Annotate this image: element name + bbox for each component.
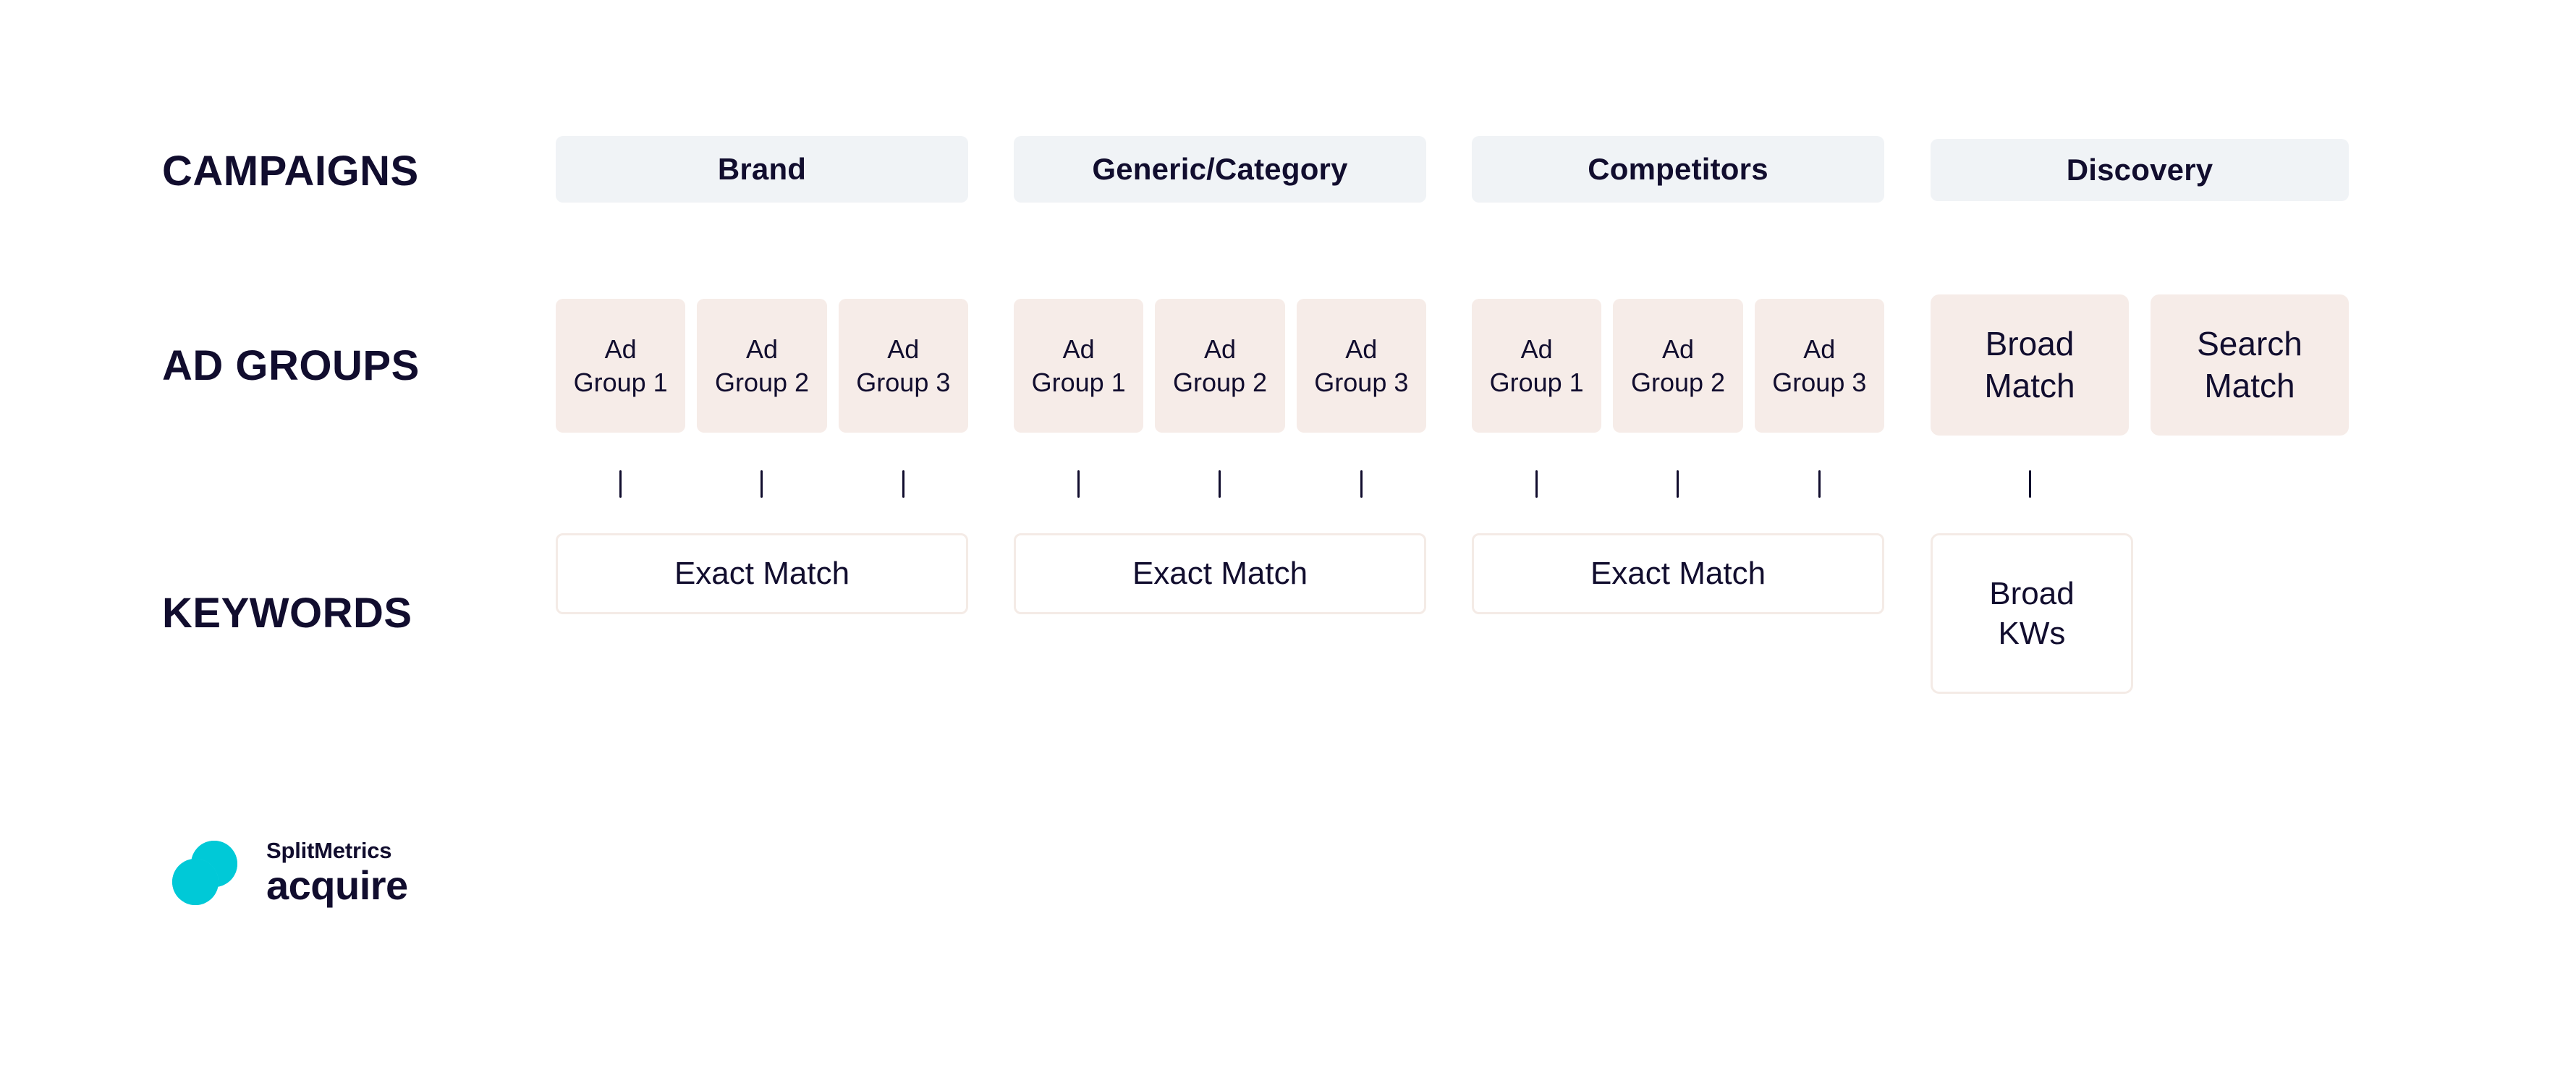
campaign-label: Generic/Category [1092, 154, 1347, 184]
keyword-card[interactable]: Exact Match [1014, 533, 1426, 614]
ad-group-card[interactable]: Ad Group 2 [1613, 299, 1742, 433]
connector-line [1219, 470, 1221, 498]
ad-group-label: Ad Group 2 [715, 333, 809, 399]
ad-group-label: Ad Group 2 [1631, 333, 1725, 399]
campaign-label: Discovery [2067, 155, 2213, 185]
connector-line [1818, 470, 1821, 498]
connector-slot [1613, 470, 1742, 498]
ad-group-row: Ad Group 1 Ad Group 2 Ad Group 3 [1014, 299, 1426, 433]
ad-group-label: Ad Group 1 [1490, 333, 1584, 399]
connector-slot [839, 470, 968, 498]
logo-name-top: SplitMetrics [266, 839, 408, 862]
connector-row [1931, 470, 2349, 498]
ad-group-card[interactable]: Ad Group 3 [1297, 299, 1426, 433]
keyword-label: Broad KWs [1989, 574, 2074, 654]
overlapping-circles-icon [162, 840, 247, 905]
ad-group-card[interactable]: Ad Group 1 [1014, 299, 1143, 433]
row-label-campaigns: CAMPAIGNS [162, 147, 419, 195]
keyword-row: Exact Match [556, 533, 968, 614]
connector-slot [1472, 470, 1601, 498]
connector-line [1077, 470, 1080, 498]
ad-group-row: Ad Group 1 Ad Group 2 Ad Group 3 [1472, 299, 1884, 433]
ad-group-label: Ad Group 3 [1772, 333, 1866, 399]
keyword-label: Exact Match [674, 553, 850, 593]
campaign-card-brand[interactable]: Brand [556, 136, 968, 203]
splitmetrics-acquire-logo: SplitMetrics acquire [162, 839, 408, 906]
keyword-card-broad-kws[interactable]: Broad KWs [1931, 533, 2133, 694]
connector-line [1677, 470, 1679, 498]
campaign-columns: Brand Ad Group 1 Ad Group 2 [556, 0, 2437, 723]
connector-line [619, 470, 622, 498]
ad-group-row: Broad Match Search Match [1931, 294, 2349, 436]
ad-group-card-broad-match[interactable]: Broad Match [1931, 294, 2129, 436]
campaign-card-generic-category[interactable]: Generic/Category [1014, 136, 1426, 203]
ad-group-label: Ad Group 3 [856, 333, 950, 399]
ad-group-card[interactable]: Ad Group 3 [839, 299, 968, 433]
connector-row [556, 470, 968, 498]
connector-line [760, 470, 763, 498]
row-label-ad-groups: AD GROUPS [162, 341, 420, 390]
connector-slot [1297, 470, 1426, 498]
ad-group-label: Search Match [2197, 323, 2302, 407]
row-label-keywords: KEYWORDS [162, 589, 412, 637]
connector-slot [697, 470, 826, 498]
connector-slot [1931, 470, 2129, 498]
connector-slot [1755, 470, 1884, 498]
connector-slot-empty [2151, 470, 2349, 498]
keyword-row: Broad KWs [1931, 533, 2349, 694]
keyword-label: Exact Match [1590, 553, 1766, 593]
ad-group-label: Ad Group 3 [1314, 333, 1408, 399]
campaign-card-competitors[interactable]: Competitors [1472, 136, 1884, 203]
campaign-label: Brand [718, 154, 806, 184]
campaign-card-discovery[interactable]: Discovery [1931, 139, 2349, 201]
connector-slot [1155, 470, 1284, 498]
keyword-row: Exact Match [1014, 533, 1426, 614]
keyword-card[interactable]: Exact Match [556, 533, 968, 614]
logo-name-bottom: acquire [266, 865, 408, 906]
ad-group-label: Broad Match [1984, 323, 2075, 407]
ad-group-card[interactable]: Ad Group 1 [556, 299, 685, 433]
ad-group-label: Ad Group 1 [1032, 333, 1126, 399]
connector-line [1535, 470, 1538, 498]
ad-group-row: Ad Group 1 Ad Group 2 Ad Group 3 [556, 299, 968, 433]
ad-group-label: Ad Group 1 [574, 333, 668, 399]
ad-group-card-search-match[interactable]: Search Match [2151, 294, 2349, 436]
connector-slot [556, 470, 685, 498]
keyword-label: Exact Match [1132, 553, 1308, 593]
connector-line [902, 470, 904, 498]
connector-row [1472, 470, 1884, 498]
campaign-structure-diagram: CAMPAIGNS AD GROUPS KEYWORDS Brand Ad Gr… [0, 0, 2576, 1078]
ad-group-card[interactable]: Ad Group 1 [1472, 299, 1601, 433]
ad-group-card[interactable]: Ad Group 2 [1155, 299, 1284, 433]
connector-slot [1014, 470, 1143, 498]
ad-group-label: Ad Group 2 [1173, 333, 1267, 399]
ad-group-card[interactable]: Ad Group 2 [697, 299, 826, 433]
keyword-card[interactable]: Exact Match [1472, 533, 1884, 614]
campaign-label: Competitors [1588, 154, 1768, 184]
connector-line [2029, 470, 2031, 498]
keyword-row: Exact Match [1472, 533, 1884, 614]
connector-line [1360, 470, 1363, 498]
connector-row [1014, 470, 1426, 498]
logo-wordmark: SplitMetrics acquire [266, 839, 408, 906]
ad-group-card[interactable]: Ad Group 3 [1755, 299, 1884, 433]
